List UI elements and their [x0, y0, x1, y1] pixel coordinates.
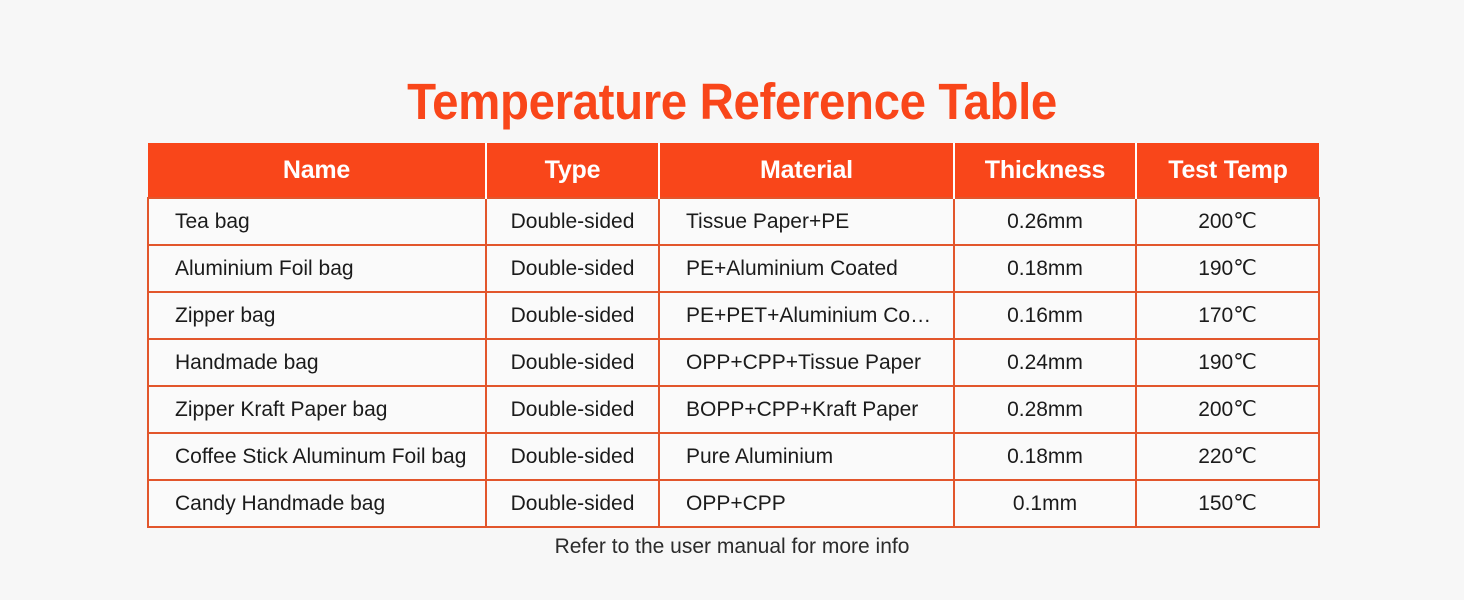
cell-type: Double-sided	[486, 386, 659, 433]
cell-thickness: 0.18mm	[954, 433, 1136, 480]
cell-material: OPP+CPP	[659, 480, 954, 527]
table-row: Candy Handmade bagDouble-sidedOPP+CPP0.1…	[148, 480, 1319, 527]
cell-thickness: 0.16mm	[954, 292, 1136, 339]
table-row: Zipper bagDouble-sidedPE+PET+Aluminium C…	[148, 292, 1319, 339]
cell-name: Zipper Kraft Paper bag	[148, 386, 486, 433]
cell-test_temp: 200℃	[1136, 198, 1319, 245]
cell-name: Coffee Stick Aluminum Foil bag	[148, 433, 486, 480]
column-header-name: Name	[148, 143, 486, 198]
column-header-test-temp: Test Temp	[1136, 143, 1319, 198]
table-header: Name Type Material Thickness Test Temp	[148, 143, 1319, 198]
cell-material: BOPP+CPP+Kraft Paper	[659, 386, 954, 433]
cell-test_temp: 190℃	[1136, 339, 1319, 386]
temperature-reference-table: Name Type Material Thickness Test Temp T…	[147, 143, 1320, 528]
cell-material: Pure Aluminium	[659, 433, 954, 480]
cell-type: Double-sided	[486, 433, 659, 480]
cell-thickness: 0.18mm	[954, 245, 1136, 292]
cell-type: Double-sided	[486, 198, 659, 245]
table-row: Zipper Kraft Paper bagDouble-sidedBOPP+C…	[148, 386, 1319, 433]
table-body: Tea bagDouble-sidedTissue Paper+PE0.26mm…	[148, 198, 1319, 527]
table-row: Handmade bagDouble-sidedOPP+CPP+Tissue P…	[148, 339, 1319, 386]
cell-thickness: 0.1mm	[954, 480, 1136, 527]
column-header-material: Material	[659, 143, 954, 198]
cell-type: Double-sided	[486, 292, 659, 339]
cell-test_temp: 220℃	[1136, 433, 1319, 480]
temperature-reference-page: Temperature Reference Table Name Type Ma…	[0, 0, 1464, 600]
cell-material: PE+PET+Aluminium Coated	[659, 292, 954, 339]
cell-test_temp: 200℃	[1136, 386, 1319, 433]
cell-thickness: 0.28mm	[954, 386, 1136, 433]
table-row: Coffee Stick Aluminum Foil bagDouble-sid…	[148, 433, 1319, 480]
footnote-text: Refer to the user manual for more info	[0, 535, 1464, 559]
cell-type: Double-sided	[486, 339, 659, 386]
cell-type: Double-sided	[486, 480, 659, 527]
cell-material: PE+Aluminium Coated	[659, 245, 954, 292]
cell-name: Handmade bag	[148, 339, 486, 386]
table-row: Tea bagDouble-sidedTissue Paper+PE0.26mm…	[148, 198, 1319, 245]
table-row: Aluminium Foil bagDouble-sidedPE+Alumini…	[148, 245, 1319, 292]
column-header-type: Type	[486, 143, 659, 198]
cell-material: OPP+CPP+Tissue Paper	[659, 339, 954, 386]
cell-name: Candy Handmade bag	[148, 480, 486, 527]
cell-test_temp: 150℃	[1136, 480, 1319, 527]
cell-test_temp: 170℃	[1136, 292, 1319, 339]
cell-name: Tea bag	[148, 198, 486, 245]
page-title: Temperature Reference Table	[51, 72, 1413, 132]
cell-type: Double-sided	[486, 245, 659, 292]
cell-test_temp: 190℃	[1136, 245, 1319, 292]
table-container: Name Type Material Thickness Test Temp T…	[147, 143, 1318, 528]
cell-thickness: 0.24mm	[954, 339, 1136, 386]
header-row: Name Type Material Thickness Test Temp	[148, 143, 1319, 198]
cell-name: Aluminium Foil bag	[148, 245, 486, 292]
cell-thickness: 0.26mm	[954, 198, 1136, 245]
column-header-thickness: Thickness	[954, 143, 1136, 198]
cell-material: Tissue Paper+PE	[659, 198, 954, 245]
cell-name: Zipper bag	[148, 292, 486, 339]
